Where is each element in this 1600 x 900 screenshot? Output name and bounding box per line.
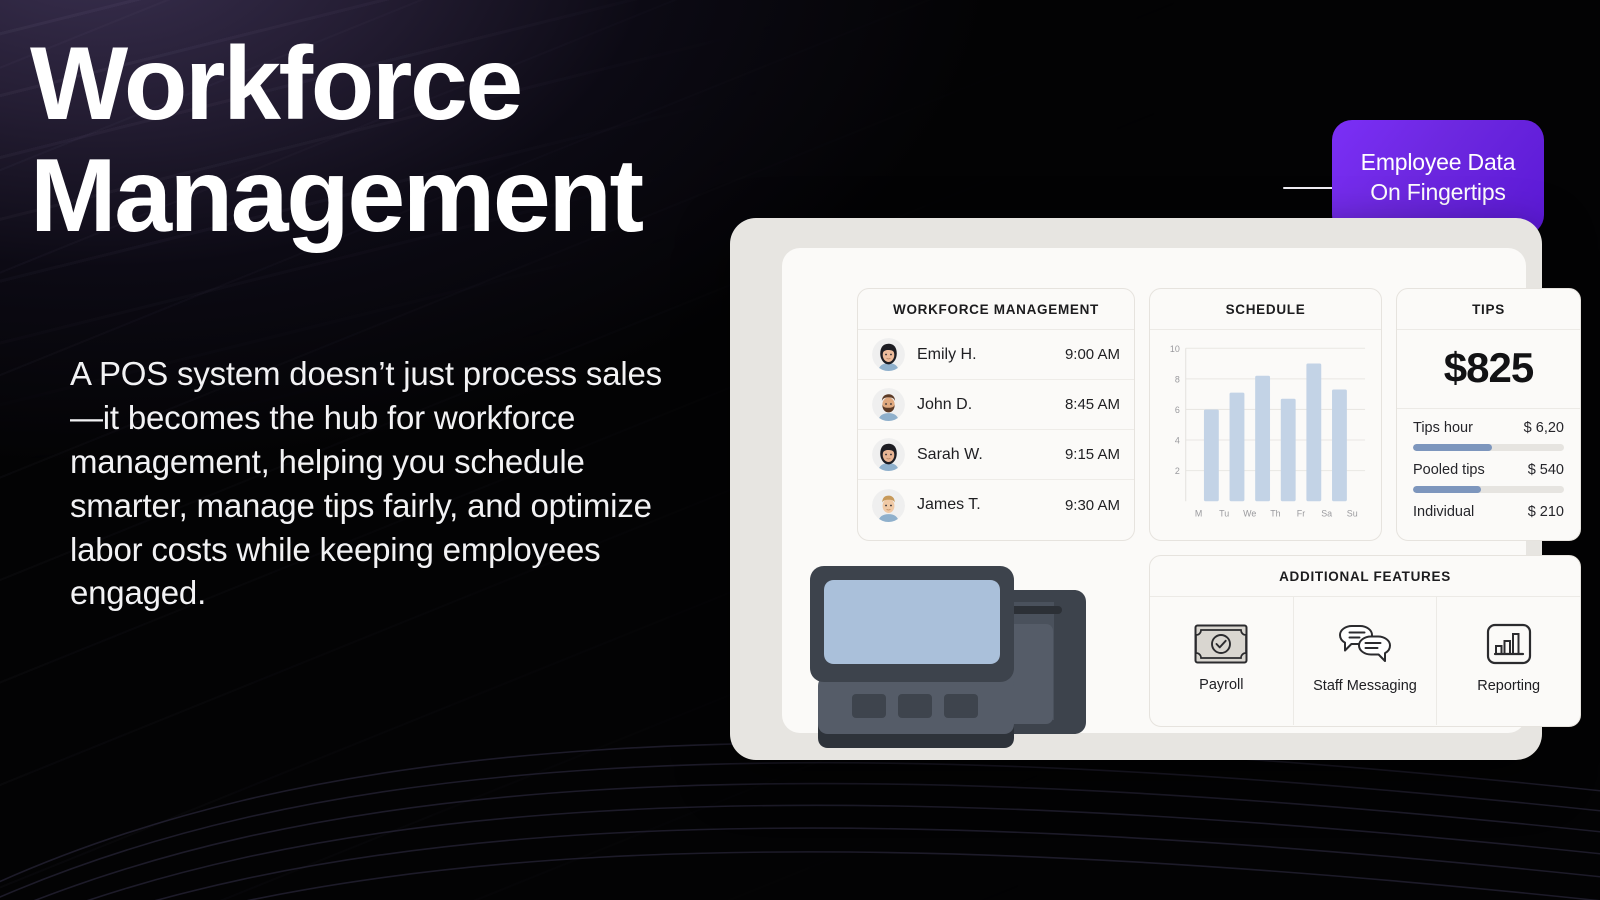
feature-reporting[interactable]: Reporting (1437, 597, 1580, 725)
feature-label: Payroll (1199, 677, 1243, 695)
tips-row: Pooled tips $ 540 (1397, 451, 1580, 493)
tips-row-label: Tips hour (1413, 420, 1473, 436)
feature-staff-messaging[interactable]: Staff Messaging (1294, 597, 1438, 725)
badge-line-1: Employee Data (1361, 149, 1516, 175)
svg-text:M: M (1195, 509, 1202, 519)
svg-text:10: 10 (1170, 344, 1180, 354)
feature-label: Reporting (1477, 678, 1540, 696)
table-row[interactable]: Emily H. 9:00 AM (858, 330, 1134, 380)
tips-progress-bar (1413, 444, 1564, 451)
tips-row-label: Individual (1413, 504, 1474, 520)
svg-text:2: 2 (1175, 466, 1180, 476)
employee-name: John D. (917, 396, 1065, 414)
employee-name: Emily H. (917, 346, 1065, 364)
workforce-panel-title: WORKFORCE MANAGEMENT (858, 289, 1134, 330)
tips-row-value: $ 210 (1528, 504, 1564, 520)
tips-row: Tips hour $ 6,20 (1397, 409, 1580, 451)
feature-label: Staff Messaging (1313, 678, 1417, 696)
svg-text:Sa: Sa (1321, 509, 1333, 519)
additional-features-panel: ADDITIONAL FEATURES Payroll (1149, 555, 1581, 727)
svg-text:Fr: Fr (1297, 509, 1305, 519)
pos-terminal-illustration (800, 546, 1100, 764)
svg-text:6: 6 (1175, 405, 1180, 415)
bar-chart-icon (1486, 623, 1532, 665)
schedule-chart: 108642MTuWeThFrSaSu (1150, 330, 1381, 526)
svg-text:Th: Th (1270, 509, 1280, 519)
chat-bubbles-icon (1336, 623, 1394, 665)
employee-time: 9:15 AM (1065, 446, 1120, 463)
tips-panel: TIPS $825 Tips hour $ 6,20 Pooled tips $… (1396, 288, 1581, 541)
page-title: Workforce Management (30, 28, 790, 253)
schedule-bar-chart: 108642MTuWeThFrSaSu (1160, 340, 1371, 526)
svg-text:4: 4 (1175, 435, 1180, 445)
dashboard-screen: WORKFORCE MANAGEMENT Emily H. 9:00 AM (782, 248, 1526, 733)
feature-payroll[interactable]: Payroll (1150, 597, 1294, 725)
employee-time: 8:45 AM (1065, 396, 1120, 413)
headline-line-1: Workforce (30, 26, 521, 142)
svg-text:We: We (1243, 509, 1256, 519)
tips-progress-bar (1413, 486, 1564, 493)
svg-text:Su: Su (1347, 509, 1358, 519)
workforce-panel: WORKFORCE MANAGEMENT Emily H. 9:00 AM (857, 288, 1135, 541)
table-row[interactable]: James T. 9:30 AM (858, 480, 1134, 530)
svg-text:8: 8 (1175, 374, 1180, 384)
features-panel-title: ADDITIONAL FEATURES (1150, 556, 1580, 597)
table-row[interactable]: John D. 8:45 AM (858, 380, 1134, 430)
schedule-panel-title: SCHEDULE (1150, 289, 1381, 330)
avatar (872, 388, 905, 421)
avatar (872, 438, 905, 471)
tips-row: Individual $ 210 (1397, 493, 1580, 520)
employee-name: James T. (917, 496, 1065, 514)
headline-line-2: Management (30, 140, 790, 252)
body-paragraph: A POS system doesn’t just process sales—… (70, 352, 670, 615)
banknote-check-icon (1194, 624, 1248, 664)
schedule-panel: SCHEDULE 108642MTuWeThFrSaSu (1149, 288, 1382, 541)
badge-connector-line (1283, 187, 1335, 189)
avatar (872, 338, 905, 371)
tips-total: $825 (1397, 330, 1580, 409)
svg-text:Tu: Tu (1219, 509, 1229, 519)
employee-time: 9:00 AM (1065, 346, 1120, 363)
badge-line-2: On Fingertips (1370, 179, 1505, 205)
tips-row-value: $ 540 (1528, 462, 1564, 478)
tips-panel-title: TIPS (1397, 289, 1580, 330)
tips-row-value: $ 6,20 (1524, 420, 1564, 436)
tips-row-label: Pooled tips (1413, 462, 1485, 478)
employee-time: 9:30 AM (1065, 497, 1120, 514)
avatar (872, 489, 905, 522)
table-row[interactable]: Sarah W. 9:15 AM (858, 430, 1134, 480)
dashboard-frame: WORKFORCE MANAGEMENT Emily H. 9:00 AM (730, 218, 1542, 760)
employee-name: Sarah W. (917, 446, 1065, 464)
